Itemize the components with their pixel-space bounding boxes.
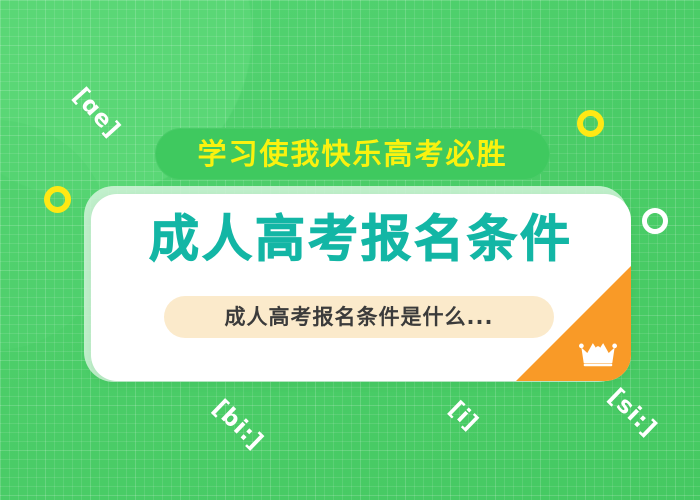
crown-icon — [579, 339, 617, 367]
slogan-text: 学习使我快乐高考必胜 — [197, 140, 507, 169]
subtitle-text: 成人高考报名条件是什么... — [225, 307, 494, 328]
decor-ring-yellow-left — [44, 186, 71, 213]
page-title: 成人高考报名条件 — [91, 214, 631, 264]
decor-ring-yellow-right — [577, 110, 604, 137]
subtitle-pill: 成人高考报名条件是什么... — [164, 296, 554, 338]
decor-ring-white-right — [642, 208, 668, 234]
headline-card: 成人高考报名条件 成人高考报名条件是什么... — [91, 194, 631, 381]
slogan-banner: 学习使我快乐高考必胜 — [155, 128, 550, 180]
poster-canvas: [ɑe] [bi:] [i] [si:] 学习使我快乐高考必胜 成人高考报名条件… — [0, 0, 700, 500]
